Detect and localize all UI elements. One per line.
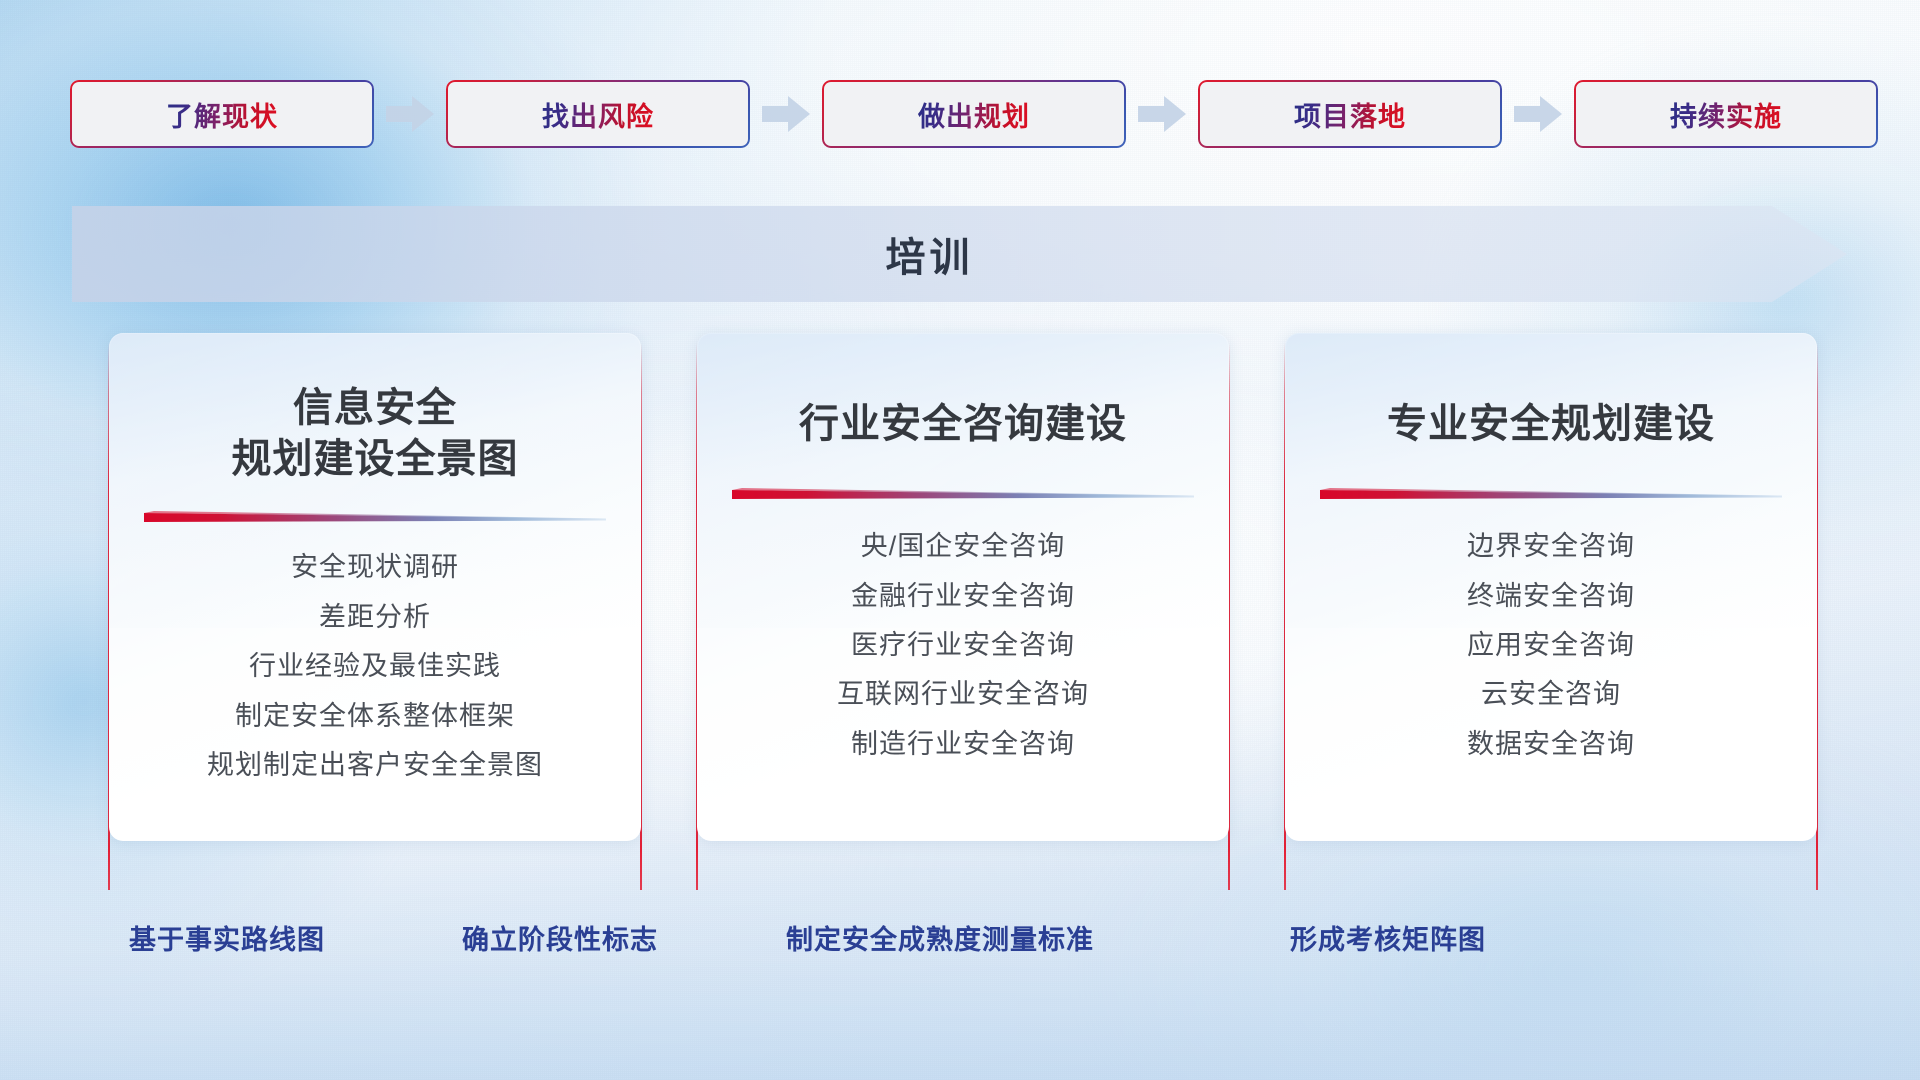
card-list-item[interactable]: 央/国企安全咨询 — [861, 530, 1066, 562]
footer-label-1: 基于事实路线图 — [129, 918, 325, 957]
service-cards-row: 信息安全 规划建设全景图安全现状调研差距分析行业经验及最佳实践制定安全体系整体框… — [108, 333, 1818, 878]
step-chip-label: 了解现状 — [166, 95, 278, 134]
training-banner-label: 培训 — [72, 206, 1847, 302]
card-list-item[interactable]: 医疗行业安全咨询 — [851, 629, 1075, 661]
card-title: 专业安全规划建设 — [1311, 399, 1791, 450]
card-list-item[interactable]: 规划制定出客户安全全景图 — [207, 749, 543, 781]
training-banner: 培训 — [72, 206, 1847, 302]
card-list-item[interactable]: 互联网行业安全咨询 — [837, 678, 1089, 710]
card-content: 信息安全 规划建设全景图安全现状调研差距分析行业经验及最佳实践制定安全体系整体框… — [109, 333, 641, 841]
service-card-3[interactable]: 专业安全规划建设边界安全咨询终端安全咨询应用安全咨询云安全咨询数据安全咨询 — [1284, 333, 1818, 878]
card-body: 信息安全 规划建设全景图安全现状调研差距分析行业经验及最佳实践制定安全体系整体框… — [109, 333, 641, 841]
card-list-item[interactable]: 差距分析 — [319, 601, 431, 633]
gradient-divider-icon — [732, 488, 1194, 502]
right-arrow-icon — [760, 94, 812, 134]
step-chip-4[interactable]: 项目落地 — [1198, 80, 1502, 148]
card-item-list: 央/国企安全咨询金融行业安全咨询医疗行业安全咨询互联网行业安全咨询制造行业安全咨… — [723, 530, 1203, 760]
step-chip-label: 持续实施 — [1670, 95, 1782, 134]
card-list-item[interactable]: 制造行业安全咨询 — [851, 728, 1075, 760]
card-item-list: 安全现状调研差距分析行业经验及最佳实践制定安全体系整体框架规划制定出客户安全全景… — [135, 551, 615, 781]
card-divider — [732, 488, 1194, 502]
step-arrow-4 — [1502, 92, 1574, 136]
card-list-item[interactable]: 边界安全咨询 — [1467, 530, 1635, 562]
card-list-item[interactable]: 终端安全咨询 — [1467, 580, 1635, 612]
slide-stage: 了解现状找出风险做出规划项目落地持续实施 培训 信息安全 规划建设全景图安全现状… — [0, 0, 1920, 1080]
card-content: 专业安全规划建设边界安全咨询终端安全咨询应用安全咨询云安全咨询数据安全咨询 — [1285, 333, 1817, 841]
card-item-list: 边界安全咨询终端安全咨询应用安全咨询云安全咨询数据安全咨询 — [1311, 530, 1791, 760]
card-list-item[interactable]: 金融行业安全咨询 — [851, 580, 1075, 612]
footer-label-4: 形成考核矩阵图 — [1290, 918, 1486, 957]
process-step-row: 了解现状找出风险做出规划项目落地持续实施 — [70, 78, 1850, 150]
right-arrow-icon — [384, 94, 436, 134]
gradient-divider-icon — [1320, 488, 1782, 502]
card-body: 专业安全规划建设边界安全咨询终端安全咨询应用安全咨询云安全咨询数据安全咨询 — [1285, 333, 1817, 841]
step-chip-label: 做出规划 — [918, 95, 1030, 134]
card-divider — [144, 511, 606, 525]
step-chip-label: 项目落地 — [1294, 95, 1406, 134]
footer-label-3: 制定安全成熟度测量标准 — [786, 918, 1094, 957]
card-title: 行业安全咨询建设 — [723, 399, 1203, 450]
card-list-item[interactable]: 行业经验及最佳实践 — [249, 650, 501, 682]
step-arrow-1 — [374, 92, 446, 136]
step-arrow-3 — [1126, 92, 1198, 136]
card-list-item[interactable]: 应用安全咨询 — [1467, 629, 1635, 661]
step-arrow-2 — [750, 92, 822, 136]
card-list-item[interactable]: 云安全咨询 — [1481, 678, 1621, 710]
step-chip-1[interactable]: 了解现状 — [70, 80, 374, 148]
card-list-item[interactable]: 安全现状调研 — [291, 551, 459, 583]
card-body: 行业安全咨询建设央/国企安全咨询金融行业安全咨询医疗行业安全咨询互联网行业安全咨… — [697, 333, 1229, 841]
card-list-item[interactable]: 数据安全咨询 — [1467, 728, 1635, 760]
step-chip-label: 找出风险 — [542, 95, 654, 134]
step-chip-5[interactable]: 持续实施 — [1574, 80, 1878, 148]
footer-label-2: 确立阶段性标志 — [462, 918, 658, 957]
step-chip-2[interactable]: 找出风险 — [446, 80, 750, 148]
card-list-item[interactable]: 制定安全体系整体框架 — [235, 700, 515, 732]
step-chip-3[interactable]: 做出规划 — [822, 80, 1126, 148]
card-divider — [1320, 488, 1782, 502]
card-title: 信息安全 规划建设全景图 — [135, 383, 615, 485]
card-content: 行业安全咨询建设央/国企安全咨询金融行业安全咨询医疗行业安全咨询互联网行业安全咨… — [697, 333, 1229, 841]
right-arrow-icon — [1512, 94, 1564, 134]
right-arrow-icon — [1136, 94, 1188, 134]
footer-label-row: 基于事实路线图确立阶段性标志制定安全成熟度测量标准形成考核矩阵图 — [0, 918, 1920, 964]
gradient-divider-icon — [144, 511, 606, 525]
service-card-2[interactable]: 行业安全咨询建设央/国企安全咨询金融行业安全咨询医疗行业安全咨询互联网行业安全咨… — [696, 333, 1230, 878]
service-card-1[interactable]: 信息安全 规划建设全景图安全现状调研差距分析行业经验及最佳实践制定安全体系整体框… — [108, 333, 642, 878]
